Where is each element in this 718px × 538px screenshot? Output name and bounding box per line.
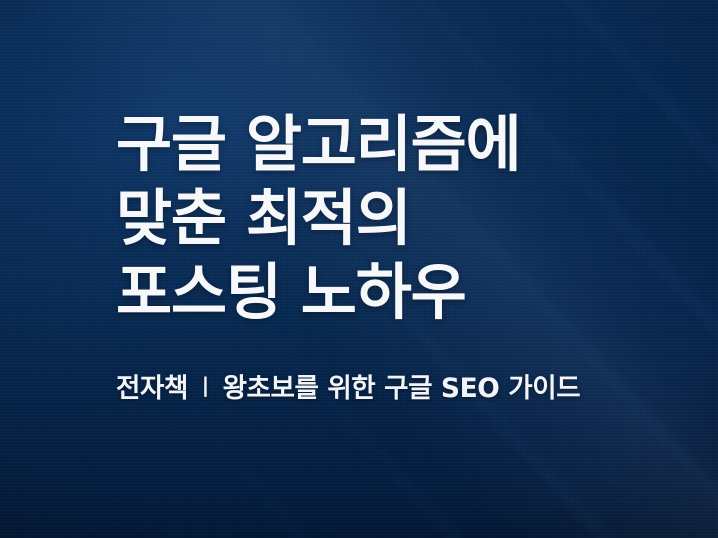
subtitle-separator: l (197, 372, 214, 406)
headline-line-1: 구글 알고리즘에 (116, 108, 694, 182)
cover-text-block: 구글 알고리즘에 맞춘 최적의 포스팅 노하우 전자책 l 왕초보를 위한 구글… (116, 108, 694, 406)
headline-line-3: 포스팅 노하우 (116, 256, 694, 330)
headline-line-2: 맞춘 최적의 (116, 182, 694, 256)
subtitle-suffix: 왕초보를 위한 구글 SEO 가이드 (223, 373, 581, 404)
subtitle: 전자책 l 왕초보를 위한 구글 SEO 가이드 (116, 330, 694, 406)
subtitle-prefix: 전자책 (116, 373, 188, 404)
ebook-cover-slide: 구글 알고리즘에 맞춘 최적의 포스팅 노하우 전자책 l 왕초보를 위한 구글… (0, 0, 718, 538)
headline-title: 구글 알고리즘에 맞춘 최적의 포스팅 노하우 (116, 108, 694, 330)
